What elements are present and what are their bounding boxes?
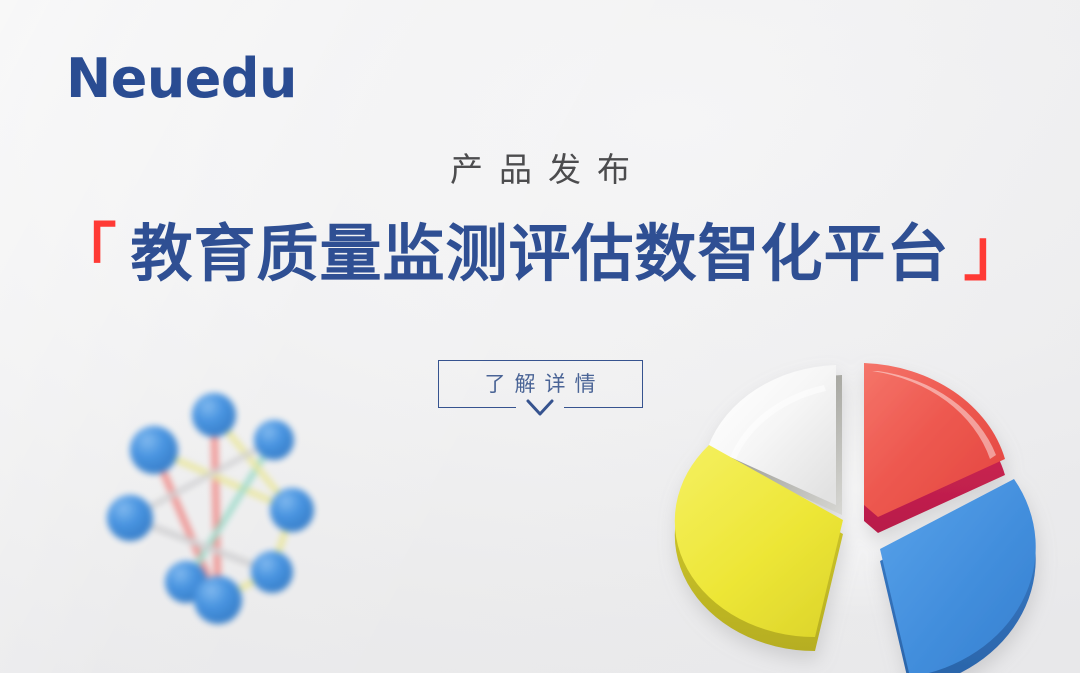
- pie-chart-3d-decoration: [610, 279, 1080, 673]
- brand-logo: Neuedu: [66, 52, 297, 106]
- network-graph-decoration: [96, 382, 368, 654]
- chevron-down-icon[interactable]: [524, 397, 556, 419]
- product-launch-poster: Neuedu 产品发布 「 教育质量监测评估数智化平台 」 了解详情: [0, 0, 1080, 673]
- bracket-close-icon: 」: [964, 222, 1026, 284]
- bracket-open-icon: 「: [54, 222, 116, 284]
- learn-more-button[interactable]: 了解详情: [438, 360, 643, 408]
- cta-rule-right: [564, 407, 642, 408]
- cta-rule-left: [438, 407, 516, 408]
- page-title-text: 教育质量监测评估数智化平台: [130, 222, 949, 289]
- cta-container: 了解详情: [0, 360, 1080, 408]
- kicker-text: 产品发布: [0, 152, 1080, 188]
- learn-more-label: 了解详情: [476, 374, 605, 395]
- page-title: 「 教育质量监测评估数智化平台 」: [0, 222, 1080, 289]
